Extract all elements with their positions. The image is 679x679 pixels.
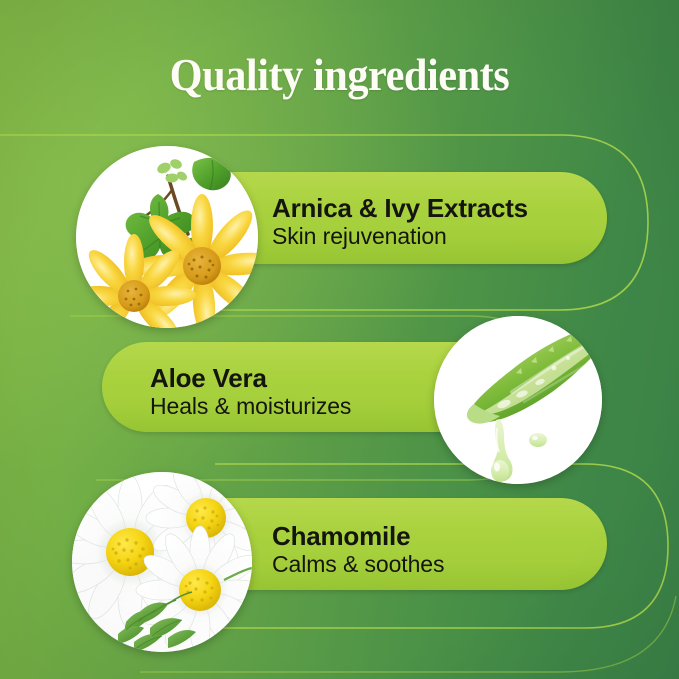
quality-ingredients-poster: Quality ingredients Arnica & Ivy Extract… [0,0,679,679]
ingredient-heading: Arnica & Ivy Extracts [272,194,528,223]
ingredient-text-aloe-vera: Aloe Vera Heals & moisturizes [150,364,351,420]
ingredient-subheading: Skin rejuvenation [272,223,528,250]
page-title: Quality ingredients [27,48,652,101]
ingredient-row-arnica-ivy: Arnica & Ivy Extracts Skin rejuvenation [0,146,679,326]
ingredient-subheading: Calms & soothes [272,551,444,578]
ingredient-row-chamomile: Chamomile Calms & soothes [0,470,679,650]
ingredient-text-arnica-ivy: Arnica & Ivy Extracts Skin rejuvenation [272,194,528,250]
ingredient-text-chamomile: Chamomile Calms & soothes [272,522,444,578]
ingredient-heading: Aloe Vera [150,364,351,393]
chamomile-photo [72,472,252,652]
ingredient-heading: Chamomile [272,522,444,551]
ingredient-row-aloe-vera: Aloe Vera Heals & moisturizes [0,316,679,484]
ingredient-subheading: Heals & moisturizes [150,393,351,420]
aloe-vera-photo [434,316,602,484]
arnica-ivy-photo [76,146,258,328]
